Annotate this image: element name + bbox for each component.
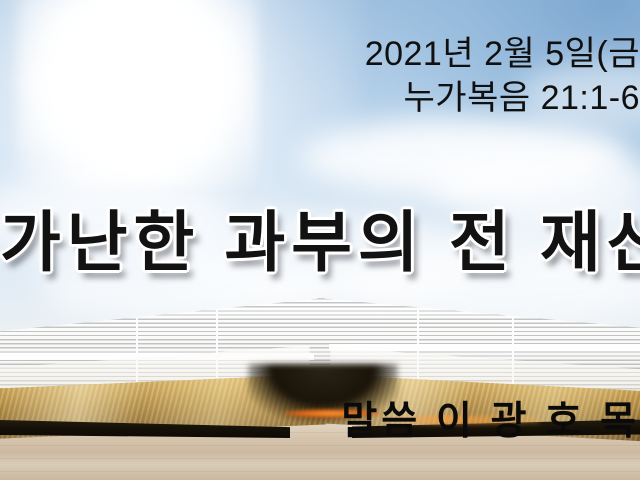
page-paragraph-gap bbox=[329, 344, 640, 351]
footer-text-block: 말씀 이 광 호 목 bbox=[0, 398, 640, 446]
slide-canvas: 2021년 2월 5일(금 누가복음 21:1-6 가난한 과부의 전 재산 말… bbox=[0, 0, 640, 480]
scripture-reference: 누가복음 21:1-6 bbox=[0, 76, 640, 120]
header-text-block: 2021년 2월 5일(금 누가복음 21:1-6 bbox=[0, 32, 640, 120]
sermon-title: 가난한 과부의 전 재산 bbox=[0, 196, 640, 288]
preacher-credit: 말씀 이 광 호 목 bbox=[341, 398, 640, 446]
sermon-date: 2021년 2월 5일(금 bbox=[0, 32, 640, 76]
